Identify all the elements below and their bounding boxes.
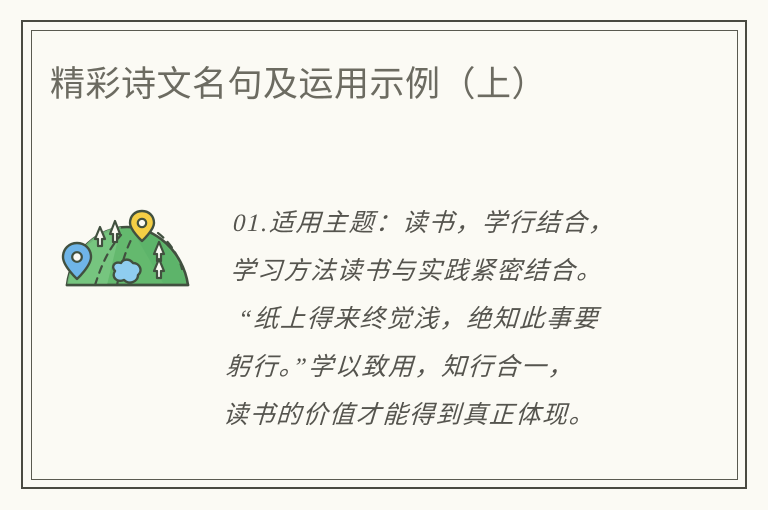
entry-line: “纸上得来终觉浅，绝知此事要 [227,296,677,344]
entry-line: 躬行。”学以致用，知行合一， [224,344,674,392]
entry-paragraph: 01.适用主题：读书，学行结合， 学习方法读书与实践紧密结合。 “纸上得来终觉浅… [222,200,682,440]
entry-line: 学习方法读书与实践紧密结合。 [229,248,679,296]
map-hill-icon [55,205,200,295]
page-title: 精彩诗文名句及运用示例（上） [50,62,547,108]
poster-card: 精彩诗文名句及运用示例（上） [0,0,768,510]
entry-line: 01.适用主题：读书，学行结合， [232,200,682,248]
entry-row: 01.适用主题：读书，学行结合， 学习方法读书与实践紧密结合。 “纸上得来终觉浅… [55,200,675,440]
entry-line: 读书的价值才能得到真正体现。 [222,392,672,440]
